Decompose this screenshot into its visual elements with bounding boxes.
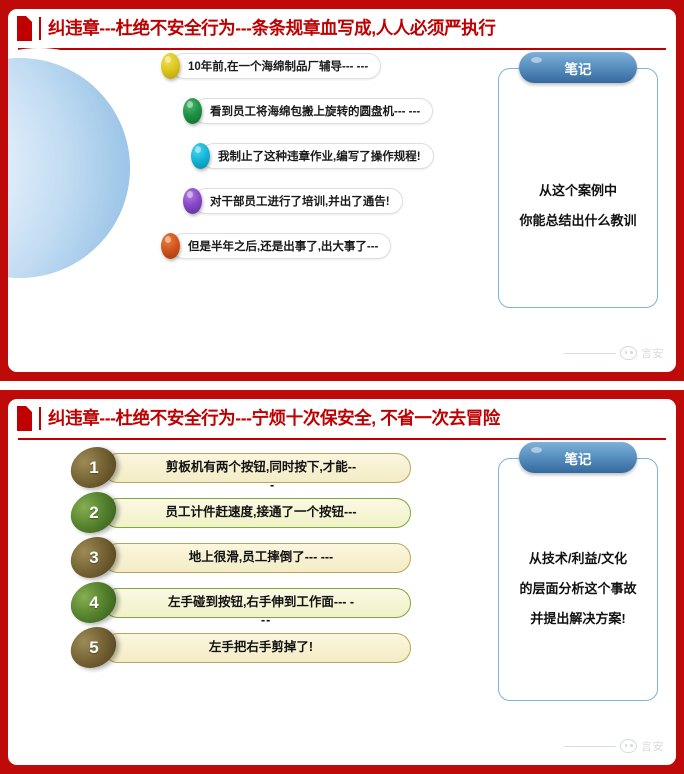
notes-line: 的层面分析这个事故	[499, 578, 657, 597]
slide-1: 纠违章---杜绝不安全行为---条条规章血写成,人人必须严执行 10年前,在一个…	[0, 0, 684, 381]
slide-separator	[0, 381, 684, 390]
wechat-icon	[620, 739, 637, 753]
step-label: 剪板机有两个按钮,同时按下,才能--	[103, 453, 411, 483]
notes-line: 从技术/利益/文化	[499, 548, 657, 567]
notes-line: 并提出解决方案!	[499, 608, 657, 627]
step-number-badge: 5	[64, 619, 124, 676]
slide-2-body: 1 剪板机有两个按钮,同时按下,才能-- - 2 员工计件赶速度,接通了一个按钮…	[8, 440, 676, 760]
list-item[interactable]: 5 左手把右手剪掉了!	[70, 628, 411, 667]
list-item[interactable]: 看到员工将海绵包搬上旋转的圆盘机--- ---	[183, 98, 433, 124]
step-number-badge: 1	[64, 439, 124, 496]
notes-panel: 笔记 从技术/利益/文化 的层面分析这个事故 并提出解决方案!	[498, 458, 658, 701]
step-number-badge: 3	[64, 529, 124, 586]
list-item[interactable]: 1 剪板机有两个按钮,同时按下,才能--	[70, 448, 411, 487]
notes-line: 你能总结出什么教训	[499, 210, 657, 229]
step-number: 3	[89, 548, 98, 568]
step-number-badge: 4	[64, 574, 124, 631]
list-item[interactable]: 2 员工计件赶速度,接通了一个按钮---	[70, 493, 411, 532]
bullet-green-icon	[183, 98, 202, 124]
slide-2-title-row: 纠违章---杜绝不安全行为---宁烦十次保安全, 不省一次去冒险	[8, 399, 676, 434]
watermark: 言安	[564, 738, 664, 754]
watermark-rule	[564, 746, 616, 747]
red-flag-icon	[17, 406, 32, 431]
step-label: 对干部员工进行了培训,并出了通告!	[193, 188, 403, 214]
title-divider	[39, 17, 41, 40]
step-number: 4	[89, 593, 98, 613]
step-label: 地上很滑,员工摔倒了--- ---	[103, 543, 411, 573]
white-arc-graphic	[8, 48, 162, 294]
slide-2-title: 纠违章---杜绝不安全行为---宁烦十次保安全, 不省一次去冒险	[48, 410, 500, 428]
notes-header: 笔记	[519, 442, 637, 473]
step-number: 1	[89, 458, 98, 478]
notes-body: 从这个案例中 你能总结出什么教训	[499, 169, 657, 240]
presentation-page: 纠违章---杜绝不安全行为---条条规章血写成,人人必须严执行 10年前,在一个…	[0, 0, 684, 774]
slide-1-title: 纠违章---杜绝不安全行为---条条规章血写成,人人必须严执行	[48, 20, 495, 38]
title-divider	[39, 407, 41, 430]
red-flag-icon	[17, 16, 32, 41]
bullet-gold-icon	[161, 53, 180, 79]
list-item[interactable]: 10年前,在一个海绵制品厂辅导--- ---	[161, 53, 381, 79]
slide-1-body: 10年前,在一个海绵制品厂辅导--- --- 看到员工将海绵包搬上旋转的圆盘机-…	[8, 50, 676, 367]
slide-1-title-row: 纠违章---杜绝不安全行为---条条规章血写成,人人必须严执行	[8, 9, 676, 44]
slide-1-inner: 纠违章---杜绝不安全行为---条条规章血写成,人人必须严执行 10年前,在一个…	[8, 9, 676, 372]
notes-line: 从这个案例中	[499, 180, 657, 199]
bullet-orange-icon	[161, 233, 180, 259]
wechat-icon	[620, 346, 637, 360]
list-item[interactable]: 3 地上很滑,员工摔倒了--- ---	[70, 538, 411, 577]
notes-body: 从技术/利益/文化 的层面分析这个事故 并提出解决方案!	[499, 537, 657, 638]
step-number: 2	[89, 503, 98, 523]
step-label: 10年前,在一个海绵制品厂辅导--- ---	[171, 53, 381, 79]
step-label: 员工计件赶速度,接通了一个按钮---	[103, 498, 411, 528]
list-item[interactable]: 但是半年之后,还是出事了,出大事了---	[161, 233, 391, 259]
step-number-badge: 2	[64, 484, 124, 541]
step-overflow: -	[270, 478, 275, 492]
step-overflow: --	[261, 613, 271, 627]
step-number: 5	[89, 638, 98, 658]
list-item[interactable]: 对干部员工进行了培训,并出了通告!	[183, 188, 403, 214]
bullet-cyan-icon	[191, 143, 210, 169]
step-label: 我制止了这种违章作业,编写了操作规程!	[201, 143, 434, 169]
notes-panel: 笔记 从这个案例中 你能总结出什么教训	[498, 68, 658, 308]
step-label: 左手碰到按钮,右手伸到工作面--- -	[103, 588, 411, 618]
watermark-text: 言安	[641, 345, 664, 361]
watermark-text: 言安	[641, 738, 664, 754]
list-item[interactable]: 4 左手碰到按钮,右手伸到工作面--- -	[70, 583, 411, 622]
step-label: 左手把右手剪掉了!	[103, 633, 411, 663]
notes-header: 笔记	[519, 52, 637, 83]
slide-2-inner: 纠违章---杜绝不安全行为---宁烦十次保安全, 不省一次去冒险 1 剪板机有两…	[8, 399, 676, 765]
step-label: 看到员工将海绵包搬上旋转的圆盘机--- ---	[193, 98, 433, 124]
bullet-purple-icon	[183, 188, 202, 214]
watermark: 言安	[564, 345, 664, 361]
watermark-rule	[564, 353, 616, 354]
step-label: 但是半年之后,还是出事了,出大事了---	[171, 233, 391, 259]
list-item[interactable]: 我制止了这种违章作业,编写了操作规程!	[191, 143, 434, 169]
slide-2: 纠违章---杜绝不安全行为---宁烦十次保安全, 不省一次去冒险 1 剪板机有两…	[0, 390, 684, 774]
